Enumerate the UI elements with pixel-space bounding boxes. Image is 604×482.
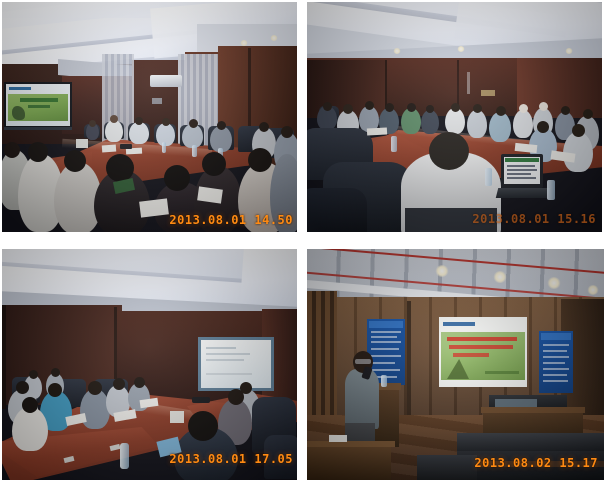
photo-bottom-right-scene	[307, 249, 604, 480]
photo-timestamp: 2013.08.02 15.17	[474, 456, 598, 470]
photo-bottom-left[interactable]: 2013.08.01 17.05	[2, 249, 297, 480]
photo-top-right-scene	[307, 2, 602, 232]
photo-vignette	[2, 249, 297, 480]
photo-bottom-left-scene	[2, 249, 297, 480]
photo-vignette	[2, 2, 297, 232]
photo-timestamp: 2013.08.01 15.16	[472, 212, 596, 226]
photo-timestamp: 2013.08.01 17.05	[169, 452, 293, 466]
photo-top-left-scene	[2, 2, 297, 232]
photo-bottom-right[interactable]: 2013.08.02 15.17	[307, 249, 604, 480]
photo-vignette	[307, 249, 604, 480]
photo-top-right[interactable]: 2013.08.01 15.16	[307, 2, 602, 232]
photo-vignette	[307, 2, 602, 232]
photo-contact-sheet: 2013.08.01 14.50	[0, 0, 604, 482]
photo-top-left[interactable]: 2013.08.01 14.50	[2, 2, 297, 232]
photo-timestamp: 2013.08.01 14.50	[169, 213, 293, 227]
